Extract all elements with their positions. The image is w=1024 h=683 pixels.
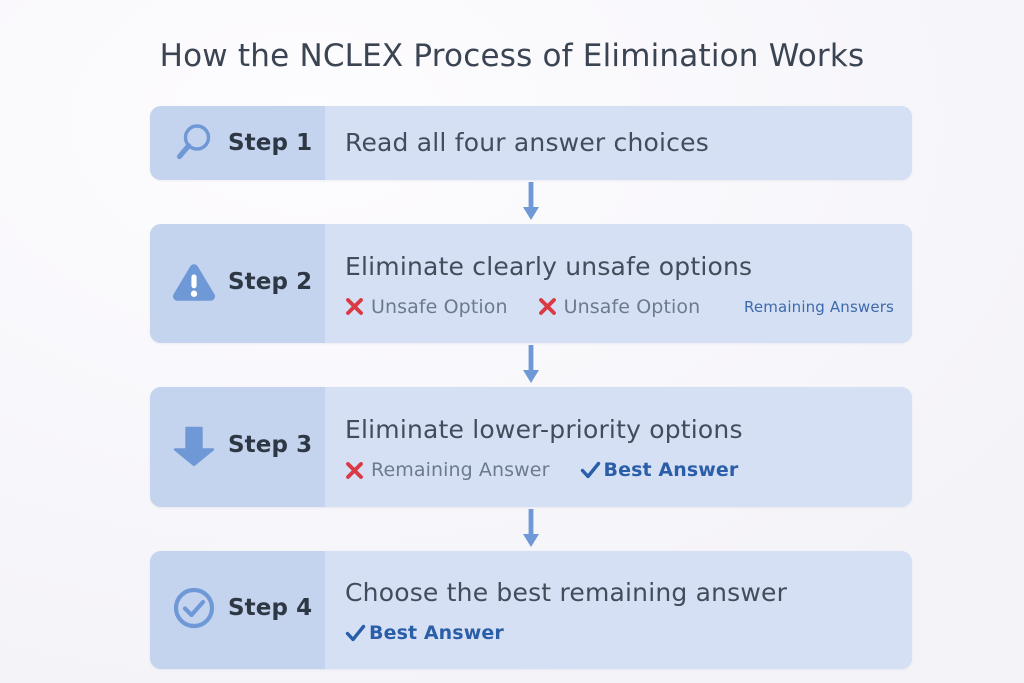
option-label: Unsafe Option [564, 296, 701, 318]
remaining-answers-note: Remaining Answers [744, 298, 896, 316]
step-4-options: Best Answer [345, 622, 896, 644]
process-flow: Step 1 Read all four answer choices [150, 106, 912, 669]
check-circle-icon [170, 584, 218, 632]
option-item: Remaining Answer [345, 459, 550, 481]
step-1-label: Step 1 [228, 130, 312, 156]
step-1-description: Read all four answer choices [345, 128, 896, 158]
step-2-options: Unsafe Option Unsafe Option Remaining An… [345, 296, 896, 318]
step-3-options: Remaining Answer Best Answer [345, 459, 896, 481]
option-label: Unsafe Option [371, 296, 508, 318]
step-card-4: Step 4 Choose the best remaining answer … [150, 551, 912, 669]
connector-arrow-2-to-3 [150, 343, 912, 387]
option-item: Unsafe Option [345, 296, 508, 318]
magnifier-icon [170, 119, 218, 167]
warning-triangle-icon [170, 258, 218, 306]
step-4-left-panel: Step 4 [150, 551, 325, 669]
step-card-3: Step 3 Eliminate lower-priority options … [150, 387, 912, 507]
step-card-1: Step 1 Read all four answer choices [150, 106, 912, 180]
option-item: Best Answer [580, 459, 739, 481]
check-mark-icon [345, 623, 366, 643]
x-mark-icon [345, 461, 364, 480]
option-item: Best Answer [345, 622, 504, 644]
option-item: Unsafe Option [538, 296, 701, 318]
step-2-description: Eliminate clearly unsafe options [345, 252, 896, 282]
x-mark-icon [538, 297, 557, 316]
infographic-canvas: How the NCLEX Process of Elimination Wor… [0, 0, 1024, 683]
step-3-left-panel: Step 3 [150, 387, 325, 507]
option-label: Best Answer [369, 622, 504, 644]
step-3-description: Eliminate lower-priority options [345, 415, 896, 445]
option-label: Best Answer [604, 459, 739, 481]
step-1-left-panel: Step 1 [150, 106, 325, 180]
option-label: Remaining Answer [371, 459, 550, 481]
step-2-label: Step 2 [228, 269, 312, 295]
page-title: How the NCLEX Process of Elimination Wor… [0, 38, 1024, 74]
step-3-label: Step 3 [228, 432, 312, 458]
step-4-content: Choose the best remaining answer Best An… [325, 551, 912, 669]
step-card-2: Step 2 Eliminate clearly unsafe options … [150, 224, 912, 343]
x-mark-icon [345, 297, 364, 316]
step-4-description: Choose the best remaining answer [345, 578, 896, 608]
step-2-content: Eliminate clearly unsafe options Unsafe … [325, 224, 912, 343]
connector-arrow-1-to-2 [150, 180, 912, 224]
check-mark-icon [580, 460, 601, 480]
step-1-content: Read all four answer choices [325, 106, 912, 180]
step-2-left-panel: Step 2 [150, 224, 325, 343]
connector-arrow-3-to-4 [150, 507, 912, 551]
step-4-label: Step 4 [228, 595, 312, 621]
down-arrow-icon [170, 421, 218, 469]
step-3-content: Eliminate lower-priority options Remaini… [325, 387, 912, 507]
